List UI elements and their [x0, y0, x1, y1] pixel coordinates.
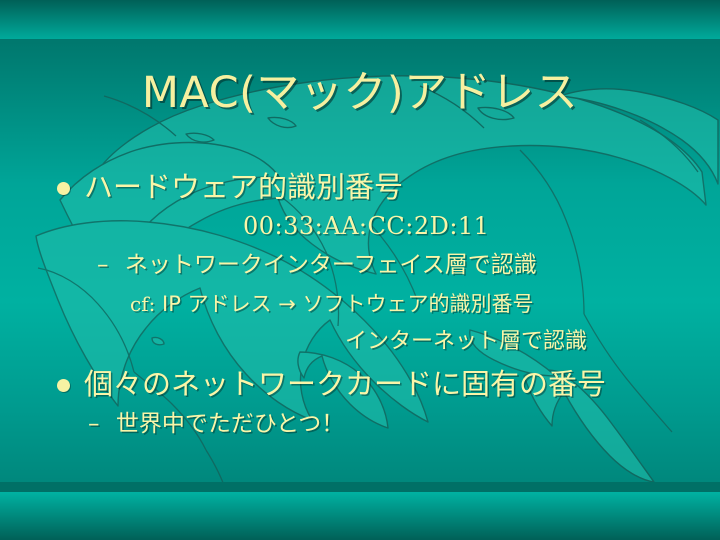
sub-item-network-interface-layer: – ネットワークインターフェイス層で認識 [0, 245, 720, 285]
top-accent-band [0, 0, 720, 39]
bottom-accent-band [0, 492, 720, 540]
note-text: インターネット層で認識 [345, 329, 587, 354]
bullet-dot-icon [57, 182, 70, 195]
bullet-text: ハードウェア的識別番号 [84, 170, 403, 204]
presentation-slide: MAC(マック)アドレス ハードウェア的識別番号 00:33:AA:CC:2D:… [0, 0, 720, 540]
bullet-item-hardware-id: ハードウェア的識別番号 [0, 167, 720, 207]
slide-title: MAC(マック)アドレス [0, 68, 720, 118]
bottom-divider-band [0, 482, 720, 492]
bullet-item-unique-per-card: 個々のネットワークカードに固有の番号 [0, 363, 720, 405]
sub-item-text: 世界中でただひとつ！ [116, 411, 344, 437]
note-ip-address-comparison: cf: IP アドレス → ソフトウェア的識別番号 [0, 285, 720, 323]
note-internet-layer: インターネット層で認識 [0, 323, 720, 361]
bullet-text: 個々のネットワークカードに固有の番号 [84, 367, 606, 401]
bullet-dot-icon [57, 379, 70, 392]
dash-marker-icon: – [88, 411, 100, 437]
sub-item-unique-worldwide: – 世界中でただひとつ！ [0, 405, 720, 443]
note-text: IP アドレス → ソフトウェア的識別番号 [162, 292, 533, 316]
cf-prefix-label: cf: [130, 292, 155, 316]
slide-body: ハードウェア的識別番号 00:33:AA:CC:2D:11 – ネットワークイン… [0, 167, 720, 443]
sub-item-text: ネットワークインターフェイス層で認識 [125, 252, 537, 278]
mac-address-text: 00:33:AA:CC:2D:11 [243, 212, 489, 240]
dash-marker-icon: – [97, 252, 109, 278]
mac-address-value: 00:33:AA:CC:2D:11 [0, 207, 720, 245]
